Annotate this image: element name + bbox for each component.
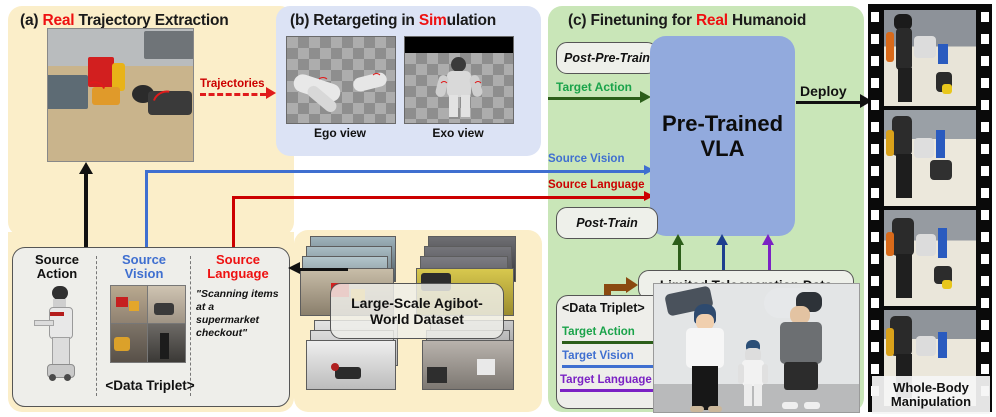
- target-language-label: Target Language: [560, 374, 652, 386]
- trajectories-arrow-head: [266, 87, 276, 99]
- filmstrip-frame-2: [884, 110, 976, 206]
- dataset-to-triplet-arrow-head: [288, 262, 300, 274]
- panel-a-title-prefix: (a): [20, 12, 42, 29]
- target-data-triplet-caption: <Data Triplet>: [562, 301, 645, 315]
- source-action-robot-icon: [40, 286, 80, 386]
- trajectories-arrow-label: Trajectories: [200, 78, 265, 90]
- sim-exo-view-image: [404, 36, 514, 124]
- source-data-triplet-caption: <Data Triplet>: [12, 378, 288, 393]
- pre-trained-vla-box: Pre-TrainedVLA: [650, 36, 795, 236]
- sim-ego-view-image: [286, 36, 396, 124]
- target-action-underline: [562, 341, 658, 344]
- panel-b-title: (b) Retargeting in Simulation: [290, 12, 496, 30]
- target-language-underline: [560, 389, 660, 392]
- source-action-arrow-line: [84, 172, 88, 250]
- panel-a-title-suffix: Trajectory Extraction: [74, 12, 228, 29]
- target-action-arrow-label: Target Action: [556, 80, 632, 94]
- source-vision-thumbnails: [110, 285, 184, 361]
- sim-ego-view-label: Ego view: [286, 126, 394, 140]
- target-action-arrow-line: [548, 97, 640, 100]
- dataset-caption: Large-Scale Agibot-World Dataset: [330, 283, 504, 339]
- target-triplet-hook-arrow-head: [626, 277, 638, 293]
- filmstrip-caption: Whole-BodyManipulation: [872, 376, 990, 414]
- target-language-up-arrow-head: [762, 234, 774, 245]
- dataset-to-triplet-arrow-line: [300, 268, 348, 271]
- filmstrip-frame-3: [884, 210, 976, 306]
- post-train-badge: Post-Train: [556, 207, 658, 239]
- target-vision-underline: [562, 365, 658, 368]
- triplet-divider-2: [190, 256, 191, 396]
- source-vision-arrow-label: Source Vision: [548, 153, 624, 165]
- target-action-up-arrow-head: [672, 234, 684, 245]
- target-vision-up-arrow-line: [722, 244, 725, 270]
- panel-c-title-prefix: (c) Finetuning for: [568, 12, 696, 29]
- panel-a-title-highlight: Real: [42, 12, 74, 29]
- deploy-arrow-line: [796, 101, 862, 104]
- target-vision-label: Target Vision: [562, 350, 634, 362]
- target-language-up-arrow-line: [768, 244, 771, 270]
- source-action-label: Source Action: [22, 253, 92, 282]
- filmstrip-frame-1: [884, 10, 976, 106]
- target-action-up-arrow-line: [678, 244, 681, 270]
- teleoperation-photo: [653, 283, 860, 413]
- trajectories-arrow-line: [200, 93, 266, 96]
- source-language-quote: "Scanning items at a supermarket checkou…: [196, 288, 280, 341]
- triplet-divider-1: [96, 256, 97, 396]
- target-vision-up-arrow-head: [716, 234, 728, 245]
- panel-c-title-highlight: Real: [696, 12, 728, 29]
- post-pre-train-badge: Post-Pre-Train: [556, 42, 658, 74]
- panel-c-title: (c) Finetuning for Real Humanoid: [568, 12, 806, 30]
- deploy-arrow-label: Deploy: [800, 83, 847, 99]
- target-triplet-hook-horizontal: [604, 284, 628, 291]
- panel-b-title-highlight: Sim: [419, 12, 447, 29]
- source-language-label: Source Language: [192, 253, 284, 282]
- source-action-arrow-head: [79, 162, 93, 174]
- real-scene-photo: [47, 28, 194, 162]
- filmstrip: [868, 4, 992, 412]
- sim-exo-view-label: Exo view: [404, 126, 512, 140]
- panel-b-title-suffix: ulation: [447, 12, 496, 29]
- source-vision-line-horizontal: [145, 170, 648, 173]
- panel-b-title-prefix: (b) Retargeting in: [290, 12, 419, 29]
- source-language-line-horizontal: [232, 196, 648, 199]
- panel-c-title-suffix: Humanoid: [728, 12, 806, 29]
- source-language-arrow-label: Source Language: [548, 179, 645, 191]
- source-vision-label: Source Vision: [104, 253, 184, 282]
- target-action-label: Target Action: [562, 326, 635, 338]
